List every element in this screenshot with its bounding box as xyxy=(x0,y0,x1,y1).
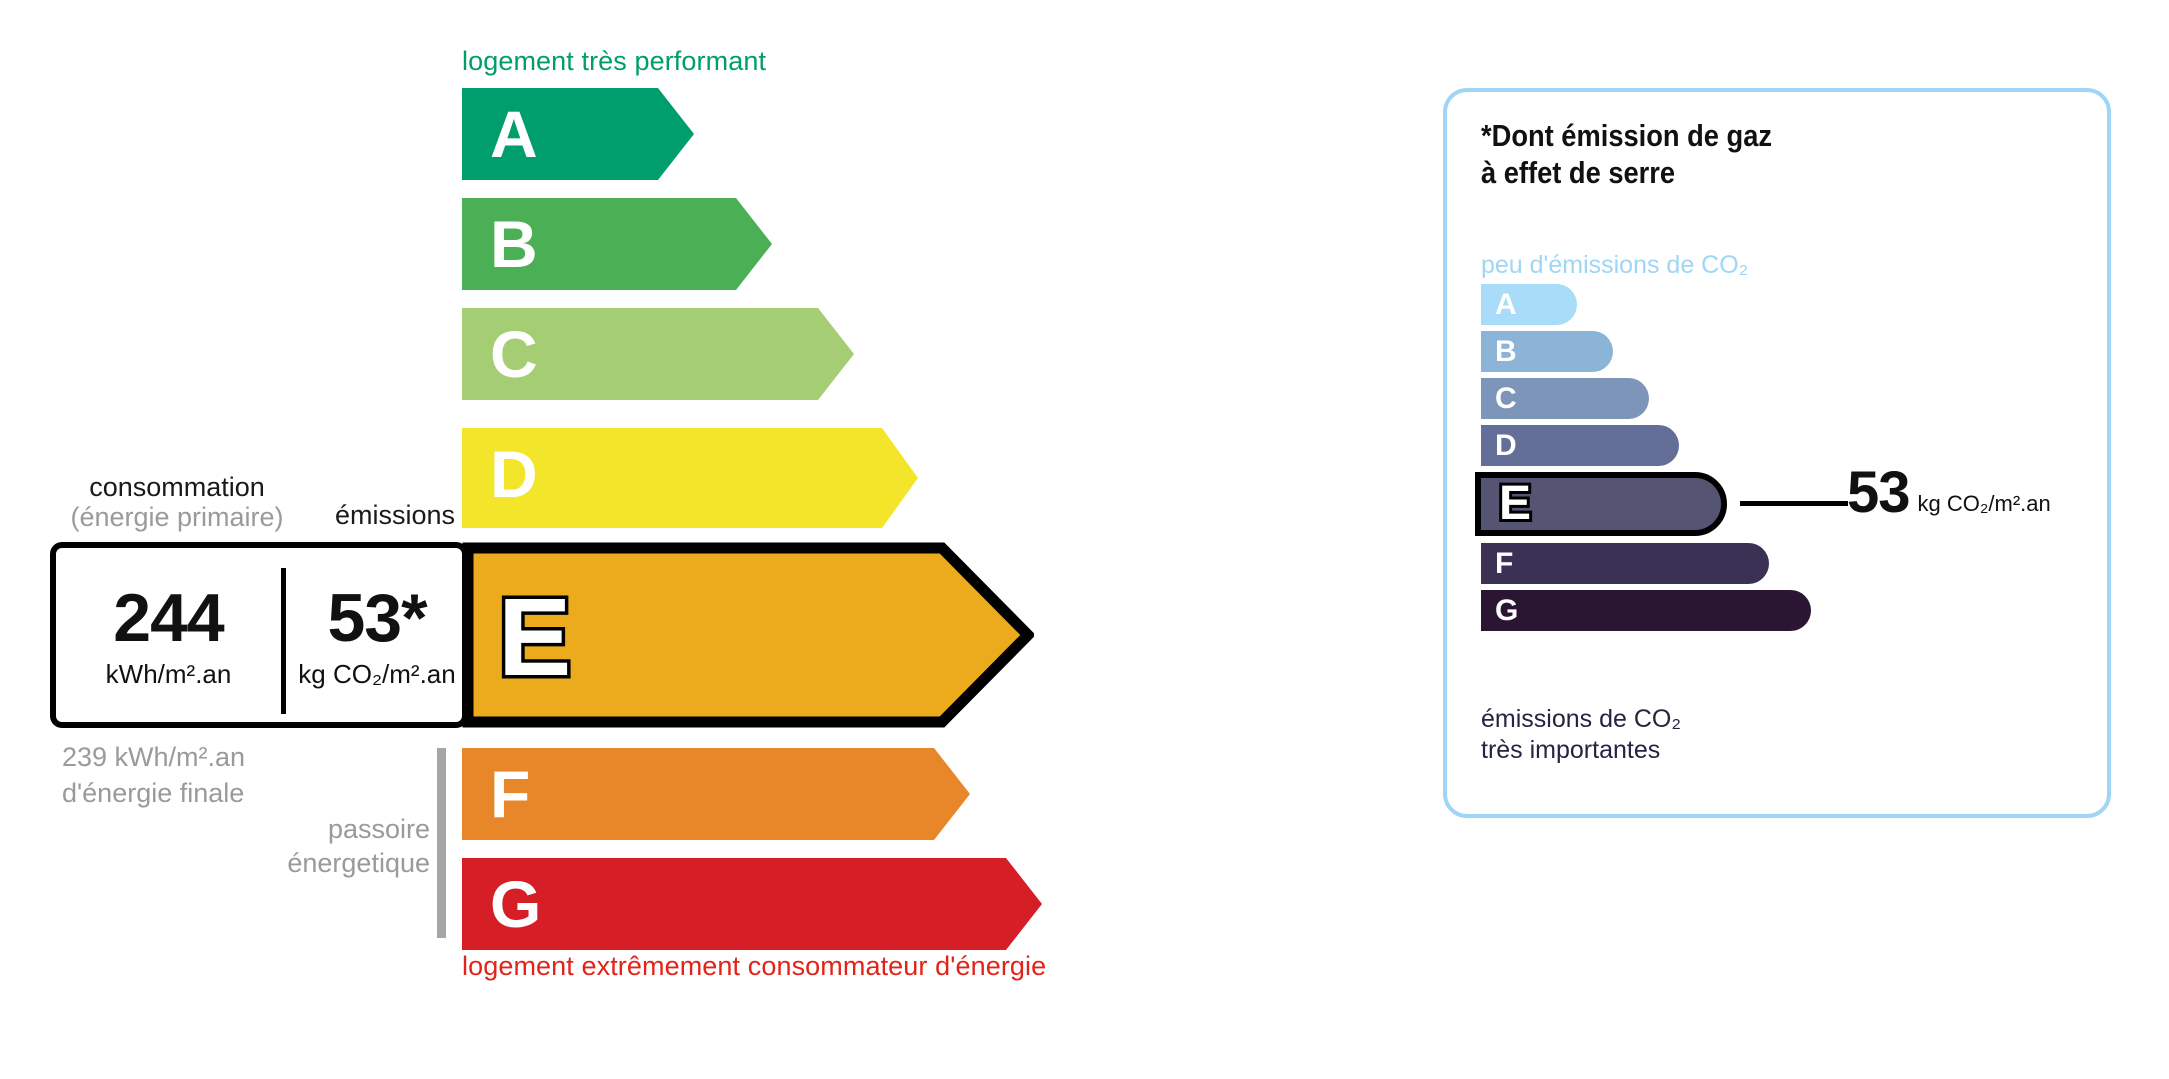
energy-bar-c: C xyxy=(462,308,854,400)
ges-letter-g: G xyxy=(1495,596,1518,626)
energy-arrow-g: G xyxy=(462,858,1042,950)
co2-value: 53* xyxy=(327,584,426,652)
energy-letter-c: C xyxy=(490,321,538,387)
ges-bottom-caption: émissions de CO₂ très importantes xyxy=(1481,704,1681,766)
ges-letter-a: A xyxy=(1495,290,1517,320)
energy-arrow-a: A xyxy=(462,88,694,180)
energy-letter-a: A xyxy=(490,101,538,167)
ges-value-group: 53 kg CO₂/m².an xyxy=(1847,464,2051,522)
energy-value-box: 244 kWh/m².an 53* kg CO₂/m².an xyxy=(50,542,468,728)
ges-bar-group: A B C D E F G xyxy=(1481,284,1811,637)
ges-top-caption: peu d'émissions de CO₂ xyxy=(1481,251,1748,280)
ges-bar-e-current: E xyxy=(1475,472,1727,536)
ges-title: *Dont émission de gaz à effet de serre xyxy=(1481,118,1772,191)
energy-bar-a: A xyxy=(462,88,694,180)
energy-top-caption: logement très performant xyxy=(462,46,766,77)
energy-arrow-f: F xyxy=(462,748,970,840)
final-energy-line2: d'énergie finale xyxy=(62,776,245,812)
energy-letter-b: B xyxy=(490,211,538,277)
ges-bar-g: G xyxy=(1481,590,1811,631)
ges-value: 53 xyxy=(1847,464,1910,522)
ges-bottom-caption-line2: très importantes xyxy=(1481,735,1681,766)
consumption-label-line2: (énergie primaire) xyxy=(62,502,292,532)
ges-title-line2: à effet de serre xyxy=(1481,155,1772,192)
ges-bottom-caption-line1: émissions de CO₂ xyxy=(1481,704,1681,735)
ges-title-line1: *Dont émission de gaz xyxy=(1481,118,1772,155)
passoire-label: passoire énergetique xyxy=(220,812,430,880)
passoire-bracket xyxy=(437,748,446,938)
energy-bar-d: D xyxy=(462,428,918,520)
dpe-diagram: logement très performant A B xyxy=(0,0,2169,1079)
passoire-line1: passoire xyxy=(220,812,430,846)
energy-arrow-e-current: E xyxy=(462,542,1034,733)
ges-bar-a: A xyxy=(1481,284,1577,325)
energy-letter-e: E xyxy=(498,583,571,693)
passoire-line2: énergetique xyxy=(220,846,430,880)
ges-bar-b: B xyxy=(1481,331,1613,372)
final-energy-label: 239 kWh/m².an d'énergie finale xyxy=(62,740,245,811)
ges-letter-d: D xyxy=(1495,431,1517,461)
ges-unit: kg CO₂/m².an xyxy=(1918,493,2051,515)
ges-bar-c: C xyxy=(1481,378,1649,419)
co2-value-cell: 53* kg CO₂/m².an xyxy=(286,548,468,722)
consumption-label-line1: consommation xyxy=(62,472,292,502)
energy-arrow-c: C xyxy=(462,308,854,400)
primary-energy-value-cell: 244 kWh/m².an xyxy=(56,548,281,722)
primary-energy-unit: kWh/m².an xyxy=(106,661,232,687)
energy-current-row: 244 kWh/m².an 53* kg CO₂/m².an E xyxy=(50,542,1072,728)
energy-bar-b: B xyxy=(462,198,772,290)
energy-bar-g: G xyxy=(462,858,1042,950)
co2-unit: kg CO₂/m².an xyxy=(298,661,455,687)
ges-letter-c: C xyxy=(1495,384,1517,414)
energy-arrow-d: D xyxy=(462,428,918,520)
ges-bar-f: F xyxy=(1481,543,1769,584)
energy-bottom-caption: logement extrêmement consommateur d'éner… xyxy=(462,951,1046,982)
emissions-label: émissions xyxy=(300,500,490,530)
energy-arrow-b: B xyxy=(462,198,772,290)
energy-letter-d: D xyxy=(490,441,538,507)
energy-bar-f: F xyxy=(462,748,970,840)
primary-energy-value: 244 xyxy=(113,584,223,652)
ges-leader-line xyxy=(1740,501,1848,506)
energy-letter-f: F xyxy=(490,761,530,827)
energy-letter-g: G xyxy=(490,871,541,937)
ges-panel: *Dont émission de gaz à effet de serre p… xyxy=(1443,88,2111,818)
energy-performance-panel: logement très performant A B xyxy=(0,0,1380,1079)
ges-bar-d: D xyxy=(1481,425,1679,466)
final-energy-line1: 239 kWh/m².an xyxy=(62,740,245,776)
ges-letter-e: E xyxy=(1499,480,1531,528)
consumption-label: consommation (énergie primaire) xyxy=(62,472,292,532)
ges-letter-b: B xyxy=(1495,337,1517,367)
ges-letter-f: F xyxy=(1495,549,1513,579)
